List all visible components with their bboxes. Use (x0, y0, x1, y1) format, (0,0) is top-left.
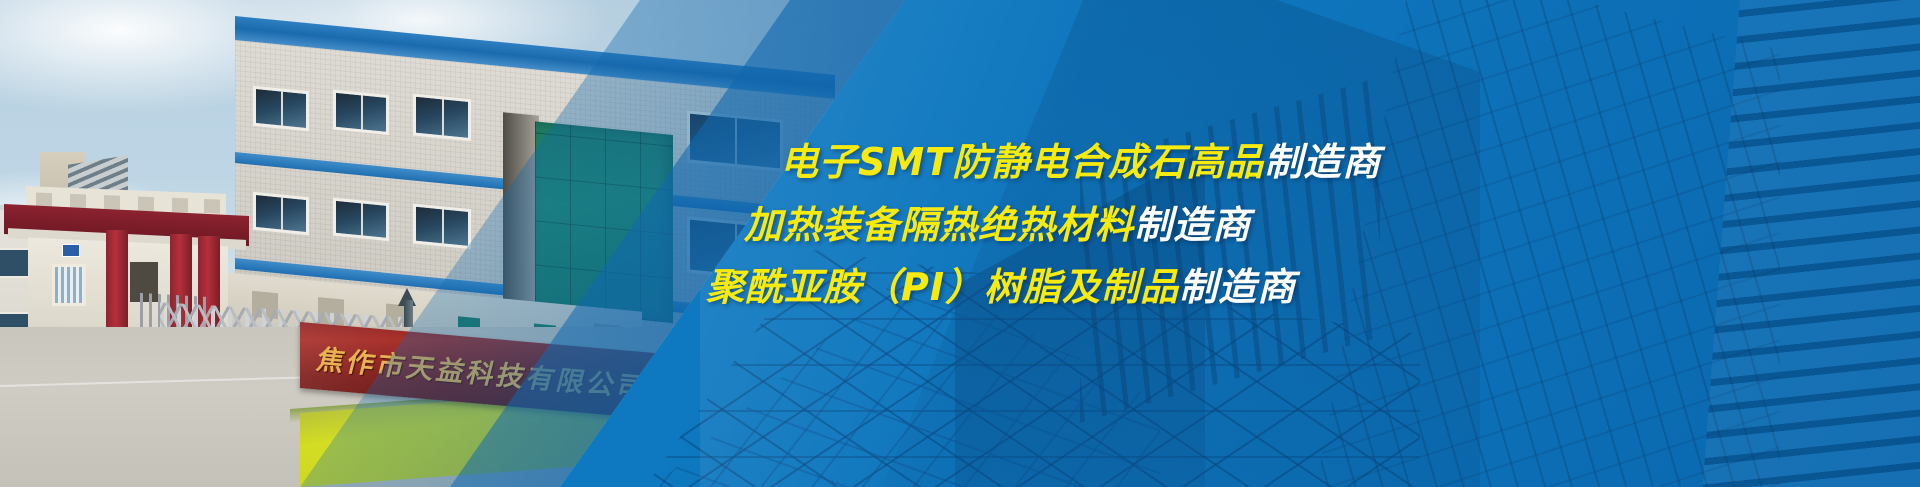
company-hero-banner: 焦作市天益科技有限公司 电子SMT防静电合成石高品制造商 加热装备隔热绝热材料制… (0, 0, 1920, 487)
green-curtain-wall (535, 121, 673, 323)
guard-plaque (62, 244, 80, 257)
facade-recess (503, 112, 539, 312)
guard-window (52, 264, 86, 306)
